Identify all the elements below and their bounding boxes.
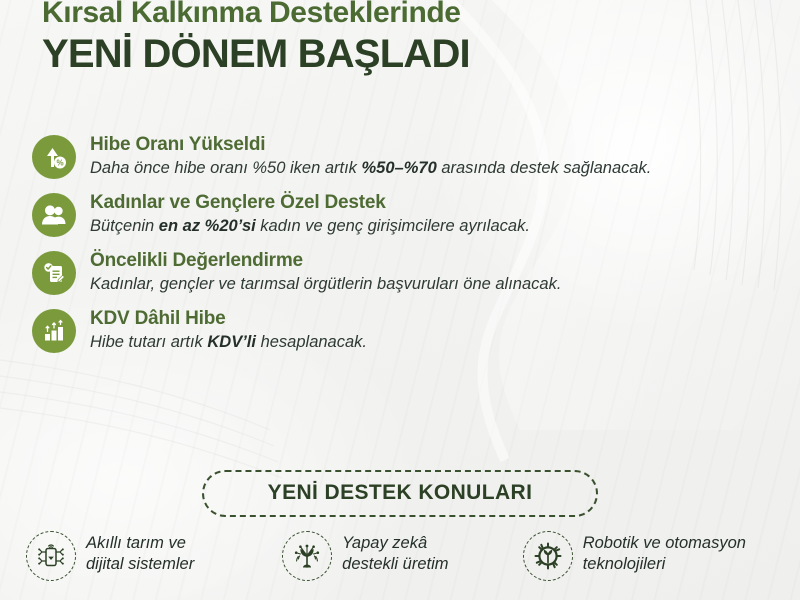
desc-part-2: hesaplanacak. [256, 333, 367, 351]
feature-item: % Hibe Oranı Yükseldi Daha önce hibe ora… [32, 133, 772, 179]
feature-description: Hibe tutarı artık KDV’li hesaplanacak. [90, 332, 367, 353]
topic-item: Robotik ve otomasyon teknolojileri [523, 531, 786, 581]
topic-label: Yapay zekâ destekli üretim [342, 531, 448, 575]
feature-description: Bütçenin en az %20’si kadın ve genç giri… [90, 216, 530, 237]
desc-part-2: arasında destek sağlanacak. [437, 159, 652, 177]
desc-highlight: en az %20’si [159, 217, 256, 235]
desc-part-1: Hibe tutarı artık [90, 333, 207, 351]
feature-heading: Kadınlar ve Gençlere Özel Destek [90, 191, 530, 215]
feature-text: Öncelikli Değerlendirme Kadınlar, gençle… [90, 249, 561, 295]
feature-text: Kadınlar ve Gençlere Özel Destek Bütçeni… [90, 191, 530, 237]
svg-text:%: % [56, 159, 63, 168]
topic-item: Akıllı tarım ve dijital sistemler [26, 531, 256, 581]
feature-description: Kadınlar, gençler ve tarımsal örgütlerin… [90, 274, 561, 295]
feature-item: Kadınlar ve Gençlere Özel Destek Bütçeni… [32, 191, 772, 237]
feature-text: Hibe Oranı Yükseldi Daha önce hibe oranı… [90, 133, 651, 179]
desc-part-1: Bütçenin [90, 217, 159, 235]
topic-label: Robotik ve otomasyon teknolojileri [583, 531, 746, 575]
page-title: Kırsal Kalkınma Desteklerinde YENİ DÖNEM… [42, 0, 470, 77]
infographic-page: Kırsal Kalkınma Desteklerinde YENİ DÖNEM… [0, 0, 800, 600]
feature-item: KDV Dâhil Hibe Hibe tutarı artık KDV’li … [32, 307, 772, 353]
desc-highlight: %50–%70 [362, 159, 437, 177]
section-divider: YENİ DESTEK KONULARI [0, 470, 800, 517]
bar-chart-up-icon [32, 309, 76, 353]
topic-list: Akıllı tarım ve dijital sistemler [26, 531, 786, 581]
circuit-plant-icon [282, 531, 332, 581]
feature-list: % Hibe Oranı Yükseldi Daha önce hibe ora… [32, 133, 772, 365]
desc-highlight: KDV’li [207, 333, 256, 351]
title-line-1: Kırsal Kalkınma Desteklerinde [42, 0, 470, 30]
new-support-topics-badge: YENİ DESTEK KONULARI [202, 470, 599, 517]
feature-description: Daha önce hibe oranı %50 iken artık %50–… [90, 158, 651, 179]
desc-part-2: kadın ve genç girişimcilere ayrılacak. [256, 217, 530, 235]
topic-label: Akıllı tarım ve dijital sistemler [86, 531, 194, 575]
feature-item: Öncelikli Değerlendirme Kadınlar, gençle… [32, 249, 772, 295]
topic-item: Yapay zekâ destekli üretim [282, 531, 497, 581]
desc-part-1: Daha önce hibe oranı %50 iken artık [90, 159, 362, 177]
two-people-icon [32, 193, 76, 237]
feature-heading: KDV Dâhil Hibe [90, 307, 367, 331]
document-check-pencil-icon [32, 251, 76, 295]
arrow-up-percent-icon: % [32, 135, 76, 179]
title-line-2: YENİ DÖNEM BAŞLADI [42, 31, 470, 77]
gear-leaf-icon [523, 531, 573, 581]
feature-text: KDV Dâhil Hibe Hibe tutarı artık KDV’li … [90, 307, 367, 353]
smartphone-wifi-icon [26, 531, 76, 581]
feature-heading: Öncelikli Değerlendirme [90, 249, 561, 273]
desc-part-1: Kadınlar, gençler ve tarımsal örgütlerin… [90, 275, 561, 293]
feature-heading: Hibe Oranı Yükseldi [90, 133, 651, 157]
